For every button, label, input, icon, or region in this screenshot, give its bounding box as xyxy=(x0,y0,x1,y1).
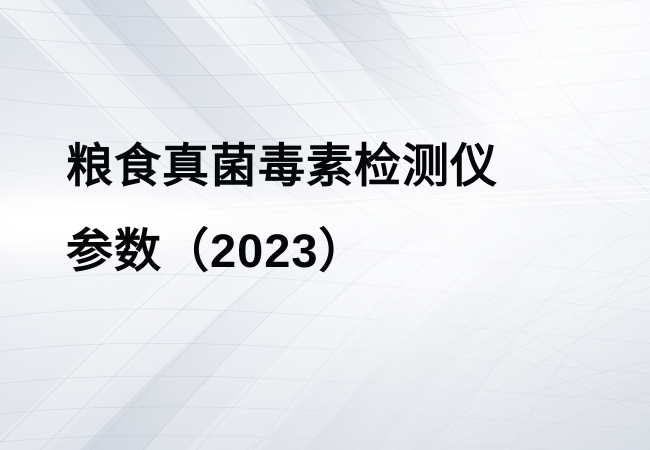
banner-image: 粮食真菌毒素检测仪 参数（2023） xyxy=(0,0,650,450)
banner-title-block: 粮食真菌毒素检测仪 参数（2023） xyxy=(66,142,586,274)
banner-title-line-1: 粮食真菌毒素检测仪 xyxy=(66,142,586,189)
banner-title-line-2: 参数（2023） xyxy=(66,227,586,274)
